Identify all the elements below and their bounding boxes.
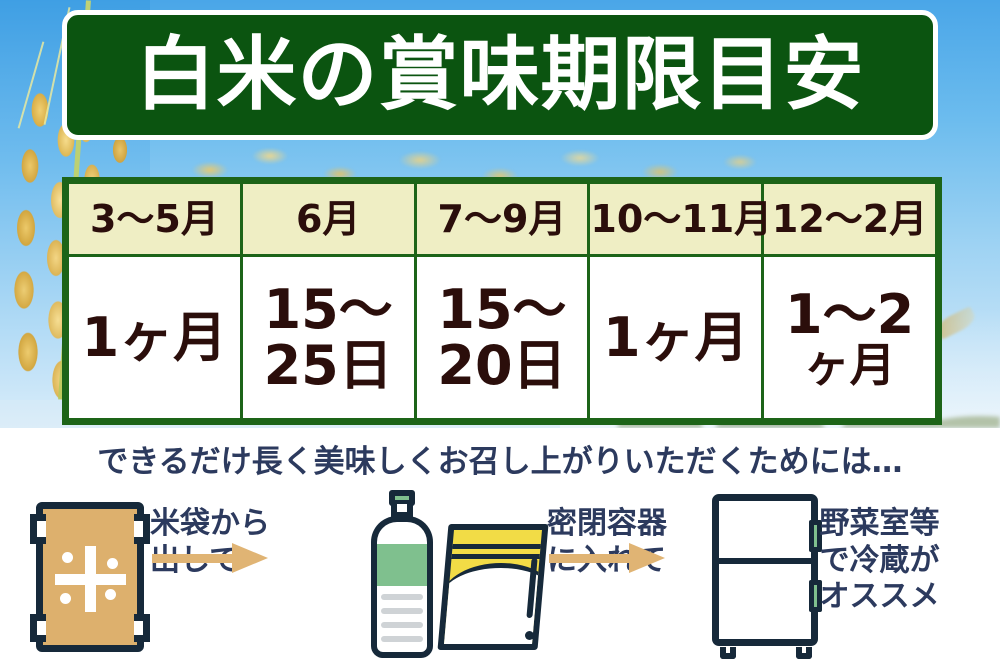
cell-line: ヶ月 [764,342,935,389]
cell-line: 1ヶ月 [69,310,240,365]
kome-kanji-icon [52,546,128,612]
cell-line: 15～ [417,282,588,337]
step-caption: 野菜室等 で冷蔵が オススメ [820,488,940,616]
cell-line: 1ヶ月 [590,310,761,365]
step-caption-line: 野菜室等 [820,506,940,543]
pet-bottle-icon [365,490,439,658]
refrigerator-icon [712,494,820,659]
step-take-out-of-bag: 米袋から 出して [0,488,357,666]
table-header-cell: 12～2月 [763,183,937,256]
cell-line: 15～ [243,282,414,337]
table-header-cell: 10～11月 [589,183,763,256]
container-art [365,488,547,658]
zip-bag-slider-dot [525,631,534,640]
table-header-row: 3～5月 6月 7～9月 10～11月 12～2月 [68,183,937,256]
bottle-rib [381,594,423,600]
cell-line: 25日 [243,338,414,393]
table-header-cell: 6月 [241,183,415,256]
table-value-cell: 15～ 20日 [415,256,589,420]
fridge-foot [796,647,812,659]
table-header-cell: 7～9月 [415,183,589,256]
bottle-shoulder [371,516,433,546]
bag-corner [30,514,46,544]
step-caption: 米袋から 出して [150,488,270,579]
bag-corner [134,614,150,642]
page-title: 白米の賞味期限目安 [136,35,865,115]
zip-bag-icon [443,524,547,652]
step-caption-line: オススメ [820,579,940,616]
step-caption-line: 米袋から [150,506,270,543]
bottle-rib [381,636,423,642]
table-value-cell: 1ヶ月 [68,256,242,420]
step-caption: 密閉容器 に入れて [547,488,667,579]
step-airtight-container: 密閉容器 に入れて [357,488,702,666]
table-value-cell: 1ヶ月 [589,256,763,420]
poster-root: 白米の賞味期限目安 3～5月 6月 7～9月 10～11月 12～2月 1ヶ月 [0,0,1000,666]
bottle-label [371,544,433,588]
bottle-rib [381,608,423,614]
fridge-body [712,494,818,646]
step-caption-line: 密閉容器 [547,506,667,543]
rice-bag-art [30,488,150,652]
cell-line: 20日 [417,338,588,393]
arrow-right-icon [152,543,270,573]
fridge-foot [720,647,736,659]
bag-corner [134,514,150,544]
lead-sentence: できるだけ長く美味しくお召し上がりいただくためには… [0,436,1000,481]
cell-line: 1～2 [764,287,935,342]
arrow-right-icon [549,543,667,573]
title-banner: 白米の賞味期限目安 [62,10,938,140]
step-refrigerate: 野菜室等 で冷蔵が オススメ [702,488,1000,666]
bottle-rib [381,622,423,628]
refrigerator-art [712,488,820,659]
table-row: 1ヶ月 15～ 25日 15～ 20日 1ヶ月 1～2 [68,256,937,420]
fridge-divider [712,558,818,564]
table-header-cell: 3～5月 [68,183,242,256]
shelf-life-table: 3～5月 6月 7～9月 10～11月 12～2月 1ヶ月 15～ 25日 [62,177,942,425]
table-value-cell: 1～2 ヶ月 [763,256,937,420]
step-caption-line: で冷蔵が [820,543,940,580]
bag-corner [30,614,46,642]
storage-steps: 米袋から 出して [0,488,1000,666]
table-value-cell: 15～ 25日 [241,256,415,420]
rice-bag-icon [30,502,150,652]
